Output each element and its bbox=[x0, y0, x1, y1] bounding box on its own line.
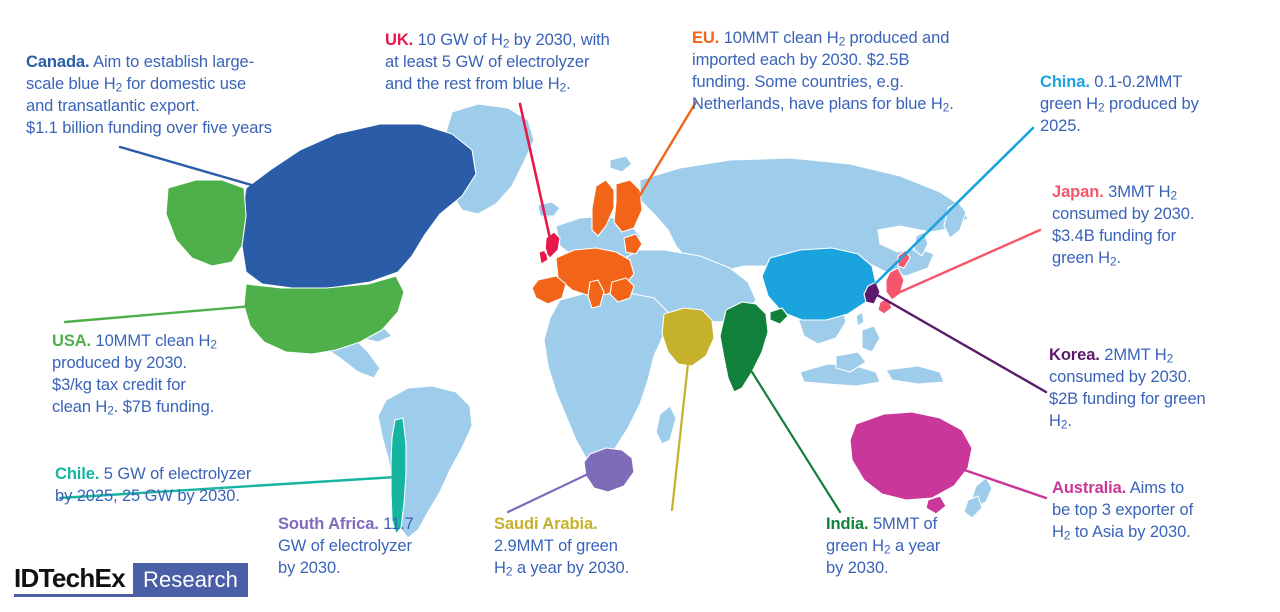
callout-text: Netherlands, have plans for blue H bbox=[692, 95, 943, 113]
callout-line: Netherlands, have plans for blue H2. bbox=[692, 94, 1002, 116]
callout-line: green H2 produced by bbox=[1040, 94, 1270, 116]
callout-line: funding. Some countries, e.g. bbox=[692, 72, 1002, 94]
callout-usa: USA. 10MMT clean H2produced by 2030.$3/k… bbox=[52, 331, 302, 419]
callout-china: China. 0.1-0.2MMTgreen H2 produced by202… bbox=[1040, 72, 1270, 138]
callout-line: H2. bbox=[1049, 411, 1269, 433]
callout-text: green H bbox=[826, 537, 884, 555]
callout-text: . bbox=[1067, 412, 1071, 430]
callout-text: . $7B funding. bbox=[114, 398, 214, 416]
callout-text: 11.7 bbox=[379, 515, 414, 533]
callout-line: $2B funding for green bbox=[1049, 389, 1269, 411]
callout-line: green H2. bbox=[1052, 248, 1267, 270]
callout-text: by 2030. bbox=[826, 559, 889, 577]
callout-line: imported each by 2030. $2.5B bbox=[692, 50, 1002, 72]
callout-korea: Korea. 2MMT H2consumed by 2030.$2B fundi… bbox=[1049, 345, 1269, 433]
callout-text: clean H bbox=[52, 398, 107, 416]
callout-line: Saudi Arabia. bbox=[494, 514, 694, 536]
callout-text: funding. Some countries, e.g. bbox=[692, 73, 904, 91]
callout-eu: EU. 10MMT clean H2 produced andimported … bbox=[692, 28, 1002, 116]
callout-text: green H bbox=[1052, 249, 1110, 267]
callout-line: EU. 10MMT clean H2 produced and bbox=[692, 28, 1002, 50]
callout-line: be top 3 exporter of bbox=[1052, 500, 1262, 522]
callout-line: Australia. Aims to bbox=[1052, 478, 1262, 500]
leader-line-saudi-arabia bbox=[672, 345, 690, 510]
callout-text: 2.9MMT of green bbox=[494, 537, 618, 555]
callout-text: . bbox=[1117, 249, 1121, 267]
country-name: Korea. bbox=[1049, 346, 1100, 364]
country-name: China. bbox=[1040, 73, 1090, 91]
callout-text: 2025. bbox=[1040, 117, 1081, 135]
callout-line: Korea. 2MMT H2 bbox=[1049, 345, 1269, 367]
callout-line: 2.9MMT of green bbox=[494, 536, 694, 558]
callout-text: Aim to establish large- bbox=[90, 53, 255, 71]
svalbard-shape bbox=[610, 156, 632, 172]
callout-text: produced and bbox=[845, 29, 949, 47]
infographic-canvas: Canada. Aim to establish large-scale blu… bbox=[0, 0, 1280, 612]
callout-text: $3.4B funding for bbox=[1052, 227, 1176, 245]
country-name: Canada. bbox=[26, 53, 90, 71]
callout-line: clean H2. $7B funding. bbox=[52, 397, 302, 419]
country-usa-alaska bbox=[166, 180, 246, 266]
callout-text: $3/kg tax credit for bbox=[52, 376, 186, 394]
callout-line: scale blue H2 for domestic use bbox=[26, 74, 326, 96]
callout-chile: Chile. 5 GW of electrolyzerby 2025, 25 G… bbox=[55, 464, 315, 508]
callout-japan: Japan. 3MMT H2consumed by 2030.$3.4B fun… bbox=[1052, 182, 1267, 270]
africa-shape bbox=[544, 292, 668, 462]
callout-line: by 2030. bbox=[826, 558, 1006, 580]
callout-text: a year by 2030. bbox=[512, 559, 629, 577]
callout-text: GW of electrolyzer bbox=[278, 537, 412, 555]
idtechex-research-logo[interactable]: IDTechEx Research bbox=[14, 563, 248, 597]
callout-line: and the rest from blue H2. bbox=[385, 74, 635, 96]
callout-line: UK. 10 GW of H2 by 2030, with bbox=[385, 30, 635, 52]
logo-wordmark: IDTechEx bbox=[14, 563, 133, 597]
callout-canada: Canada. Aim to establish large-scale blu… bbox=[26, 52, 326, 140]
country-name: Australia. bbox=[1052, 479, 1126, 497]
callout-line: green H2 a year bbox=[826, 536, 1006, 558]
callout-india: India. 5MMT ofgreen H2 a yearby 2030. bbox=[826, 514, 1006, 580]
callout-line: $1.1 billion funding over five years bbox=[26, 118, 326, 140]
callout-text: for domestic use bbox=[122, 75, 246, 93]
callout-text: consumed by 2030. bbox=[1052, 205, 1194, 223]
callout-text: H bbox=[494, 559, 506, 577]
callout-text: consumed by 2030. bbox=[1049, 368, 1191, 386]
callout-line: Canada. Aim to establish large- bbox=[26, 52, 326, 74]
callout-line: by 2030. bbox=[278, 558, 493, 580]
callout-text: produced by bbox=[1105, 95, 1199, 113]
country-name: EU. bbox=[692, 29, 719, 47]
callout-text: $1.1 billion funding over five years bbox=[26, 119, 272, 137]
callout-text: by 2025, 25 GW by 2030. bbox=[55, 487, 240, 505]
callout-line: China. 0.1-0.2MMT bbox=[1040, 72, 1270, 94]
country-name: USA. bbox=[52, 332, 91, 350]
callout-line: at least 5 GW of electrolyzer bbox=[385, 52, 635, 74]
callout-text: 0.1-0.2MMT bbox=[1090, 73, 1182, 91]
callout-text: scale blue H bbox=[26, 75, 116, 93]
leader-line-india bbox=[752, 372, 840, 512]
callout-line: 2025. bbox=[1040, 116, 1270, 138]
callout-text: to Asia by 2030. bbox=[1070, 523, 1190, 541]
callout-text: and the rest from blue H bbox=[385, 75, 560, 93]
country-name: Saudi Arabia. bbox=[494, 515, 598, 533]
country-name: India. bbox=[826, 515, 869, 533]
callout-uk: UK. 10 GW of H2 by 2030, withat least 5 … bbox=[385, 30, 635, 96]
callout-line: by 2025, 25 GW by 2030. bbox=[55, 486, 315, 508]
callout-text: 3MMT H bbox=[1104, 183, 1171, 201]
callout-saudi-arabia: Saudi Arabia.2.9MMT of greenH2 a year by… bbox=[494, 514, 694, 580]
callout-text: imported each by 2030. $2.5B bbox=[692, 51, 909, 69]
subscript: 2 bbox=[210, 338, 217, 352]
callout-australia: Australia. Aims tobe top 3 exporter ofH2… bbox=[1052, 478, 1262, 544]
leader-line-south-africa bbox=[508, 474, 588, 512]
callout-line: H2 to Asia by 2030. bbox=[1052, 522, 1262, 544]
callout-text: . bbox=[949, 95, 953, 113]
country-india bbox=[720, 302, 788, 392]
callout-line: Japan. 3MMT H2 bbox=[1052, 182, 1267, 204]
callout-text: 10MMT clean H bbox=[719, 29, 838, 47]
subscript: 2 bbox=[1167, 352, 1174, 366]
country-name: Chile. bbox=[55, 465, 99, 483]
callout-line: GW of electrolyzer bbox=[278, 536, 493, 558]
callout-text: H bbox=[1052, 523, 1064, 541]
callout-text: . bbox=[566, 75, 570, 93]
callout-text: 2MMT H bbox=[1100, 346, 1167, 364]
taiwan-shape bbox=[856, 312, 864, 326]
callout-text: green H bbox=[1040, 95, 1098, 113]
callout-text: H bbox=[1049, 412, 1061, 430]
callout-text: Aims to bbox=[1126, 479, 1184, 497]
callout-line: and transatlantic export. bbox=[26, 96, 326, 118]
subscript: 2 bbox=[1171, 189, 1178, 203]
eu-finland-sweden bbox=[614, 180, 642, 232]
callout-text: 5 GW of electrolyzer bbox=[99, 465, 251, 483]
callout-line: $3.4B funding for bbox=[1052, 226, 1267, 248]
callout-line: H2 a year by 2030. bbox=[494, 558, 694, 580]
philippines-shape bbox=[862, 326, 880, 352]
callout-text: 5MMT of bbox=[869, 515, 938, 533]
new-guinea-shape bbox=[886, 366, 944, 384]
callout-text: at least 5 GW of electrolyzer bbox=[385, 53, 589, 71]
leader-line-australia bbox=[944, 463, 1046, 498]
country-south-africa bbox=[584, 448, 634, 492]
country-name: South Africa. bbox=[278, 515, 379, 533]
callout-line: consumed by 2030. bbox=[1049, 367, 1269, 389]
callout-line: Chile. 5 GW of electrolyzer bbox=[55, 464, 315, 486]
leader-line-uk bbox=[520, 104, 551, 243]
country-name: UK. bbox=[385, 31, 413, 49]
callout-text: 10 GW of H bbox=[413, 31, 503, 49]
madagascar-shape bbox=[656, 406, 676, 444]
callout-text: produced by 2030. bbox=[52, 354, 187, 372]
callout-line: consumed by 2030. bbox=[1052, 204, 1267, 226]
logo-research-badge: Research bbox=[133, 563, 248, 597]
callout-line: $3/kg tax credit for bbox=[52, 375, 302, 397]
callout-text: 10MMT clean H bbox=[91, 332, 210, 350]
callout-text: be top 3 exporter of bbox=[1052, 501, 1193, 519]
callout-text: $2B funding for green bbox=[1049, 390, 1206, 408]
callout-line: South Africa. 11.7 bbox=[278, 514, 493, 536]
country-australia bbox=[850, 412, 972, 514]
callout-line: USA. 10MMT clean H2 bbox=[52, 331, 302, 353]
callout-south-africa: South Africa. 11.7GW of electrolyzerby 2… bbox=[278, 514, 493, 580]
callout-line: India. 5MMT of bbox=[826, 514, 1006, 536]
callout-text: a year bbox=[891, 537, 941, 555]
callout-line: produced by 2030. bbox=[52, 353, 302, 375]
callout-text: and transatlantic export. bbox=[26, 97, 200, 115]
country-canada bbox=[242, 124, 476, 288]
country-name: Japan. bbox=[1052, 183, 1104, 201]
callout-text: by 2030. bbox=[278, 559, 341, 577]
callout-text: by 2030, with bbox=[509, 31, 609, 49]
